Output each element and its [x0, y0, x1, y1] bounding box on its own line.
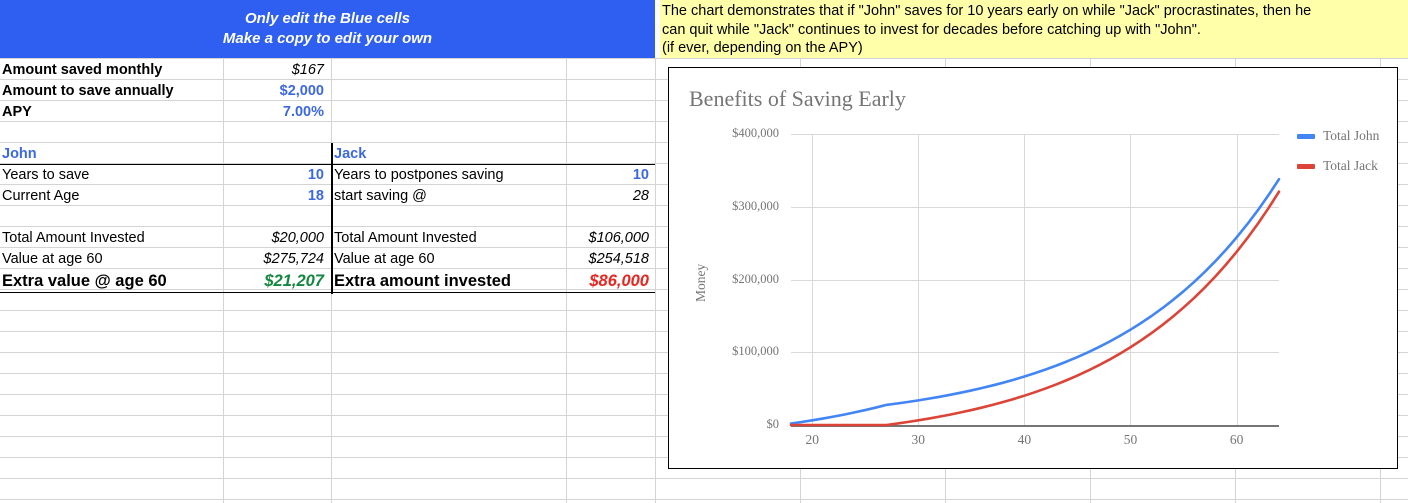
note-line-3: (if ever, depending on the APY) [662, 39, 1408, 58]
cell-jack-invested-label: Total Amount Invested [334, 228, 562, 249]
cell-john-age-label: Current Age [2, 186, 221, 207]
section-underline [0, 292, 655, 293]
note-line-1: The chart demonstrates that if "John" sa… [662, 2, 1408, 21]
header-underline [0, 164, 655, 165]
instruction-banner: Only edit the Blue cells Make a copy to … [0, 0, 655, 58]
cell-jack-start-value: 28 [564, 186, 653, 207]
cell-john-invested-value: $20,000 [223, 228, 328, 249]
cell-apy-label: APY [2, 102, 221, 123]
cell-annual-value[interactable]: $2,000 [223, 81, 328, 102]
cell-john-years-label: Years to save [2, 165, 221, 186]
column-divider [331, 143, 333, 294]
cell-john-years-value[interactable]: 10 [223, 165, 328, 186]
note-line-2: can quit while "Jack" continues to inves… [662, 21, 1408, 40]
grid-col-line [655, 58, 656, 503]
cell-john-value60-label: Value at age 60 [2, 249, 221, 270]
cell-john-value60-value: $275,724 [223, 249, 328, 270]
cell-john-name: John [2, 144, 221, 165]
cell-jack-start-label: start saving @ [334, 186, 562, 207]
grid-row-line [0, 478, 1408, 479]
cell-john-extra-value: $21,207 [223, 271, 328, 292]
cell-jack-years-value[interactable]: 10 [564, 165, 653, 186]
cell-annual-label: Amount to save annually [2, 81, 221, 102]
cell-jack-extra-label: Extra amount invested [334, 271, 562, 292]
chart-line-total-jack [791, 192, 1279, 425]
cell-john-age-value[interactable]: 18 [223, 186, 328, 207]
banner-line-1: Only edit the Blue cells [245, 9, 410, 29]
grid-row-line [0, 58, 1408, 59]
grid-row-line [0, 499, 1408, 500]
cell-jack-extra-value: $86,000 [564, 271, 653, 292]
cell-monthly-label: Amount saved monthly [2, 60, 221, 81]
banner-line-2: Make a copy to edit your own [223, 29, 432, 49]
cell-john-extra-label: Extra value @ age 60 [2, 271, 221, 292]
cell-apy-value[interactable]: 7.00% [223, 102, 328, 123]
savings-chart[interactable]: Benefits of Saving Early Money Total Joh… [668, 67, 1398, 469]
cell-monthly-value[interactable]: $167 [223, 60, 328, 81]
cell-jack-invested-value: $106,000 [564, 228, 653, 249]
explanation-note: The chart demonstrates that if "John" sa… [660, 0, 1408, 58]
cell-john-invested-label: Total Amount Invested [2, 228, 221, 249]
cell-jack-value60-value: $254,518 [564, 249, 653, 270]
cell-jack-years-label: Years to postpones saving [334, 165, 562, 186]
cell-jack-value60-label: Value at age 60 [334, 249, 562, 270]
chart-series-layer [669, 68, 1399, 470]
cell-jack-name: Jack [334, 144, 562, 165]
chart-line-total-john [791, 179, 1279, 423]
